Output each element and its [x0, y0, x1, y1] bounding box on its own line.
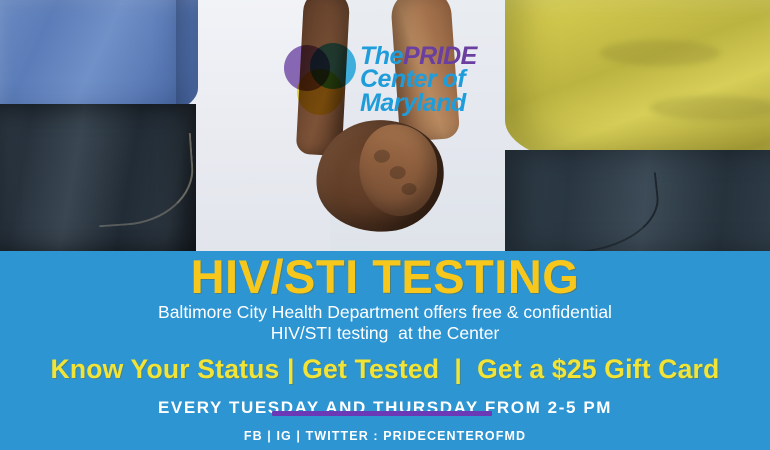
subtitle-line-2: HIV/STI testing at the Center: [0, 322, 770, 345]
hero-photo: ThePRIDE Center of Maryland: [0, 0, 770, 251]
social-handles: FB | IG | TWITTER : PRIDECENTEROFMD: [0, 429, 770, 443]
flyer-poster: ThePRIDE Center of Maryland HIV/STI TEST…: [0, 0, 770, 450]
knuckle-3: [401, 182, 417, 196]
tagline: Know Your Status | Get Tested | Get a $2…: [0, 354, 770, 385]
divider-rule: [272, 411, 492, 416]
logo-wordmark: ThePRIDE Center of Maryland: [360, 45, 477, 116]
pride-center-logo: ThePRIDE Center of Maryland: [284, 40, 500, 120]
logo-word-maryland: Maryland: [360, 89, 466, 117]
knuckle-1: [373, 149, 390, 164]
knuckle-2: [389, 165, 406, 180]
page-title: HIV/STI TESTING: [0, 253, 770, 300]
info-panel: HIV/STI TESTING Baltimore City Health De…: [0, 251, 770, 450]
person-left-shirt: [0, 0, 198, 118]
shirt-fold-2: [650, 96, 770, 120]
shirt-fold-1: [600, 40, 720, 66]
subtitle-line-1: Baltimore City Health Department offers …: [0, 301, 770, 324]
logo-venn-icon: [284, 43, 356, 117]
logo-circle-yellow-icon: [297, 69, 343, 115]
logo-line-3: Maryland: [360, 92, 477, 116]
person-right-shirt: [505, 0, 770, 164]
